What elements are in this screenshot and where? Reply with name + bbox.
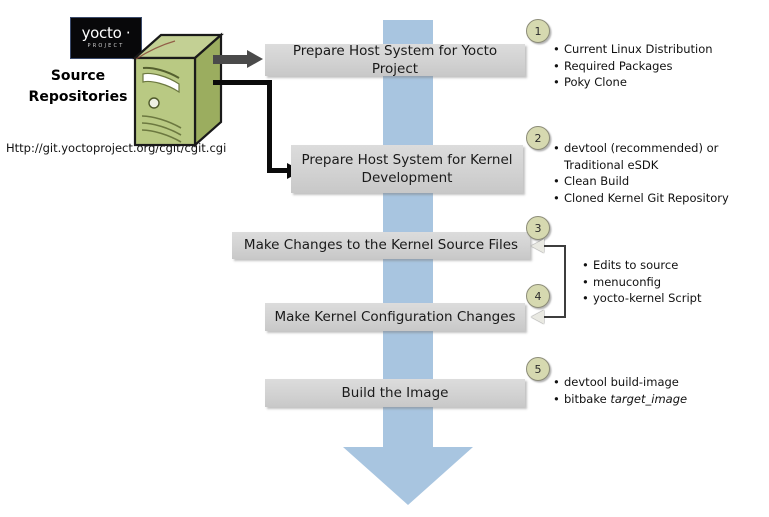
step-number-1: 1 — [526, 19, 550, 43]
note-item-prefix: bitbake — [564, 392, 610, 406]
note-item: bitbake target_image — [564, 391, 751, 408]
note-item: Required Packages — [564, 58, 763, 75]
flow-arrowhead-icon — [343, 447, 473, 505]
feedback-bracket-horizontal-step3 — [543, 245, 565, 247]
note-item: yocto-kernel Script — [593, 290, 760, 307]
yocto-logo-wordmark: yocto · — [82, 26, 131, 41]
process-box-step-3-label: Make Changes to the Kernel Source Files — [244, 236, 518, 254]
feedback-bracket-vertical — [564, 245, 566, 318]
note-item: devtool build-image — [564, 374, 751, 391]
process-box-step-2[interactable]: Prepare Host System for Kernel Developme… — [291, 145, 523, 193]
note-item: Clean Build — [564, 173, 767, 190]
step-number-2-value: 2 — [535, 132, 542, 145]
yocto-logo-subtext: PROJECT — [87, 42, 124, 50]
process-box-step-3[interactable]: Make Changes to the Kernel Source Files — [232, 232, 530, 259]
step-number-5-value: 5 — [535, 363, 542, 376]
process-box-step-1-label: Prepare Host System for Yocto Project — [273, 42, 517, 78]
process-box-step-2-label: Prepare Host System for Kernel Developme… — [299, 151, 515, 187]
note-item: Current Linux Distribution — [564, 41, 763, 58]
source-repositories-label-line2: Repositories — [14, 87, 142, 108]
note-item: Cloned Kernel Git Repository — [564, 190, 767, 207]
step-number-4-value: 4 — [535, 290, 542, 303]
process-box-step-4[interactable]: Make Kernel Configuration Changes — [265, 303, 525, 331]
note-item: Edits to source — [593, 257, 760, 274]
process-box-step-5[interactable]: Build the Image — [265, 379, 525, 407]
connector-arrowhead-to-step1-icon — [247, 50, 263, 68]
note-item: menuconfig — [593, 274, 760, 291]
feedback-bracket-horizontal-step4 — [543, 316, 565, 318]
feedback-arrowhead-step4-icon — [531, 310, 544, 324]
connector-shaft-to-step2-vertical — [267, 80, 272, 173]
note-item-emphasis: target_image — [610, 392, 687, 406]
feedback-arrowhead-step3-icon — [531, 239, 544, 253]
notes-step-5: devtool build-image bitbake target_image — [551, 374, 751, 407]
note-item: Poky Clone — [564, 74, 763, 91]
server-tower-icon — [131, 32, 225, 150]
notes-steps-3-and-4: Edits to source menuconfig yocto-kernel … — [580, 257, 760, 307]
notes-step-2: devtool (recommended) or Traditional eSD… — [551, 140, 767, 206]
source-repositories-label-line1: Source — [14, 66, 142, 87]
step-number-2: 2 — [526, 126, 550, 150]
step-number-3-value: 3 — [535, 222, 542, 235]
process-box-step-1[interactable]: Prepare Host System for Yocto Project — [265, 44, 525, 76]
connector-shaft-to-step1 — [213, 55, 251, 64]
process-box-step-4-label: Make Kernel Configuration Changes — [274, 308, 515, 326]
notes-step-1: Current Linux Distribution Required Pack… — [551, 41, 763, 91]
step-number-4: 4 — [526, 284, 550, 308]
diagram-canvas: yocto · PROJECT Source Repositories Http… — [0, 0, 769, 517]
step-number-1-value: 1 — [535, 25, 542, 38]
process-box-step-5-label: Build the Image — [342, 384, 449, 402]
note-item: devtool (recommended) or Traditional eSD… — [564, 140, 767, 173]
step-number-5: 5 — [526, 357, 550, 381]
step-number-3: 3 — [526, 216, 550, 240]
connector-shaft-to-step2-horizontal-top — [213, 80, 272, 85]
source-repositories-label: Source Repositories — [14, 66, 142, 108]
